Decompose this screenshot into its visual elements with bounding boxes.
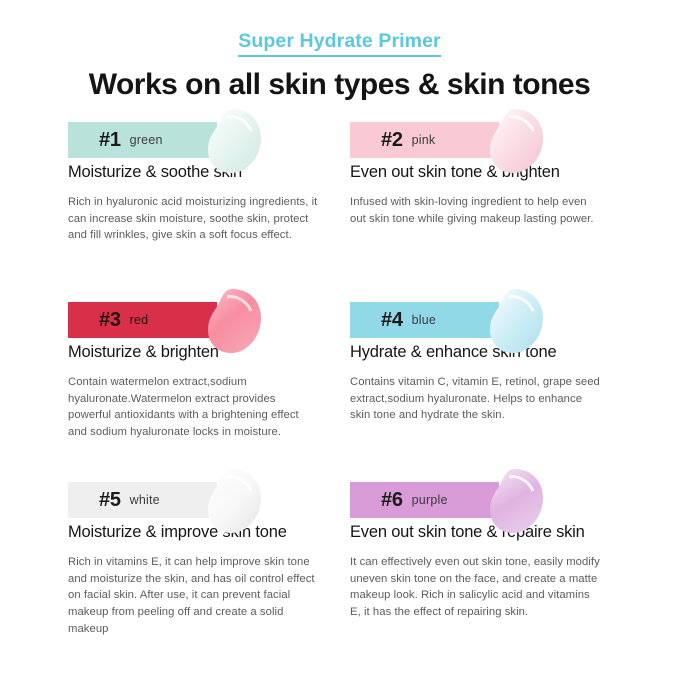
card-description: Infused with skin-loving ingredient to h… — [350, 194, 602, 227]
shade-band: #5 white — [68, 482, 217, 518]
shade-band-wrap: #4 blue — [350, 293, 628, 339]
shade-band-wrap: #6 purple — [350, 473, 628, 519]
page-headline: Works on all skin types & skin tones — [0, 68, 679, 101]
shade-band: #1 green — [68, 122, 217, 158]
benefit-headline: Moisturize & brighten — [68, 343, 350, 363]
shade-name: pink — [412, 133, 436, 147]
shade-name: blue — [412, 313, 436, 327]
shade-card: #4 blue — [350, 293, 628, 473]
benefit-headline: Moisturize & soothe skin — [68, 163, 350, 183]
shade-name: purple — [412, 493, 448, 507]
shade-number: #1 — [99, 129, 121, 152]
shade-band: #6 purple — [350, 482, 499, 518]
card-description: It can effectively even out skin tone, e… — [350, 554, 602, 621]
shade-number: #5 — [99, 489, 121, 512]
benefit-headline: Even out skin tone & brighten — [350, 163, 628, 183]
shade-number: #6 — [381, 489, 403, 512]
card-description: Rich in hyaluronic acid moisturizing ing… — [68, 194, 320, 244]
shade-card-grid: #1 green — [68, 113, 628, 653]
card-description: Contains vitamin C, vitamin E, retinol, … — [350, 374, 602, 424]
shade-card: #5 white — [68, 473, 350, 653]
card-description: Contain watermelon extract,sodium hyalur… — [68, 374, 320, 441]
shade-band: #4 blue — [350, 302, 499, 338]
benefit-headline: Hydrate & enhance skin tone — [350, 343, 628, 363]
brand-title: Super Hydrate Primer — [0, 0, 679, 52]
benefit-headline: Moisturize & improve skin tone — [68, 523, 350, 543]
benefit-headline: Even out skin tone & repaire skin — [350, 523, 628, 543]
brand-title-text: Super Hydrate Primer — [238, 30, 441, 57]
shade-band-wrap: #1 green — [68, 113, 350, 159]
shade-name: red — [130, 313, 149, 327]
shade-band-wrap: #5 white — [68, 473, 350, 519]
shade-number: #3 — [99, 309, 121, 332]
shade-name: white — [130, 493, 160, 507]
shade-card: #1 green — [68, 113, 350, 293]
shade-card: #6 purple — [350, 473, 628, 653]
shade-number: #2 — [381, 129, 403, 152]
card-description: Rich in vitamins E, it can help improve … — [68, 554, 320, 638]
shade-name: green — [130, 133, 163, 147]
shade-band: #3 red — [68, 302, 217, 338]
shade-card: #3 red — [68, 293, 350, 473]
shade-card: #2 pink — [350, 113, 628, 293]
infographic-page: Super Hydrate Primer Works on all skin t… — [0, 0, 679, 679]
shade-band: #2 pink — [350, 122, 499, 158]
shade-band-wrap: #2 pink — [350, 113, 628, 159]
shade-band-wrap: #3 red — [68, 293, 350, 339]
shade-number: #4 — [381, 309, 403, 332]
